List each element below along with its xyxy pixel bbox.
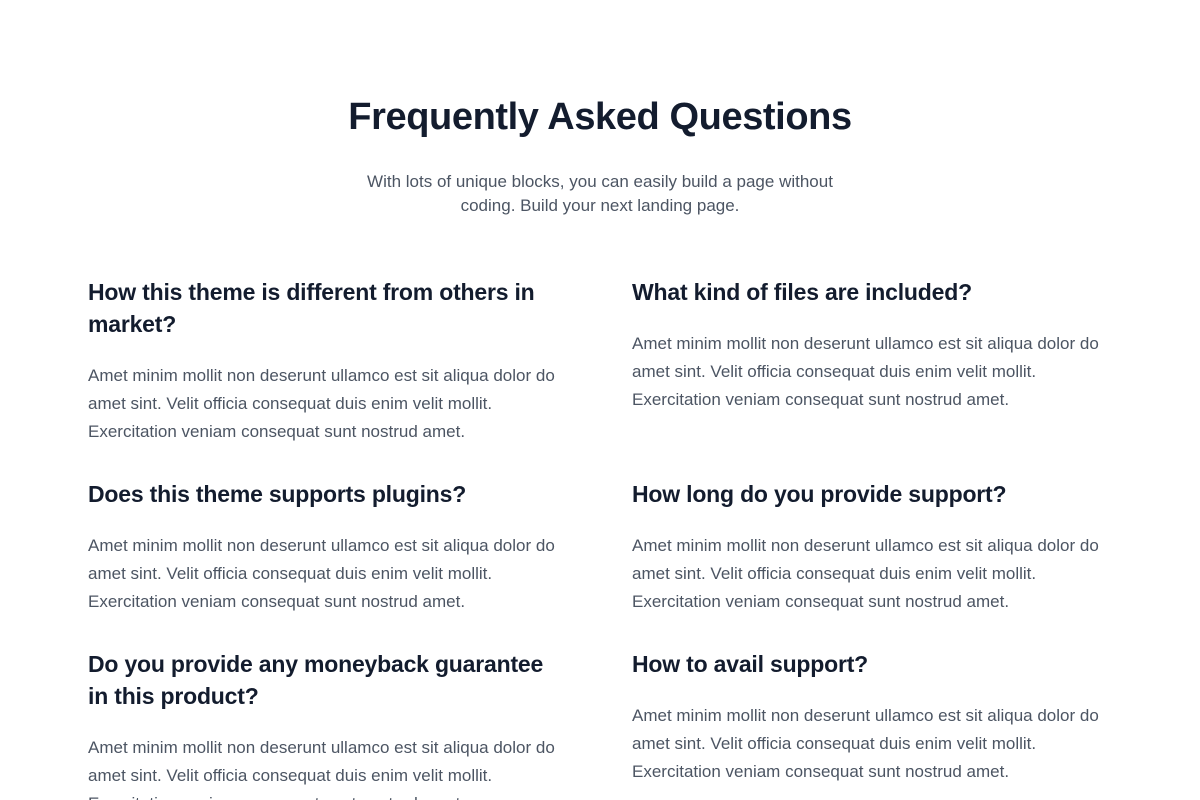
- faq-section: Frequently Asked Questions With lots of …: [0, 0, 1200, 800]
- faq-item: Does this theme supports plugins? Amet m…: [88, 478, 568, 648]
- faq-answer: Amet minim mollit non deserunt ullamco e…: [88, 510, 568, 616]
- faq-header: Frequently Asked Questions With lots of …: [0, 0, 1200, 218]
- page-subtitle: With lots of unique blocks, you can easi…: [340, 142, 860, 218]
- faq-answer: Amet minim mollit non deserunt ullamco e…: [88, 712, 568, 800]
- faq-question: How to avail support?: [632, 648, 1112, 680]
- faq-item: How long do you provide support? Amet mi…: [632, 478, 1112, 648]
- faq-answer: Amet minim mollit non deserunt ullamco e…: [632, 308, 1112, 414]
- faq-question: What kind of files are included?: [632, 276, 1112, 308]
- faq-grid: How this theme is different from others …: [0, 276, 1200, 800]
- faq-question: Do you provide any moneyback guarantee i…: [88, 648, 568, 712]
- faq-question: How long do you provide support?: [632, 478, 1112, 510]
- faq-question: Does this theme supports plugins?: [88, 478, 568, 510]
- faq-item: Do you provide any moneyback guarantee i…: [88, 648, 568, 800]
- faq-item: How this theme is different from others …: [88, 276, 568, 478]
- page-title: Frequently Asked Questions: [0, 92, 1200, 142]
- faq-item: What kind of files are included? Amet mi…: [632, 276, 1112, 478]
- faq-answer: Amet minim mollit non deserunt ullamco e…: [88, 340, 568, 446]
- faq-question: How this theme is different from others …: [88, 276, 568, 340]
- faq-answer: Amet minim mollit non deserunt ullamco e…: [632, 510, 1112, 616]
- faq-item: How to avail support? Amet minim mollit …: [632, 648, 1112, 800]
- faq-answer: Amet minim mollit non deserunt ullamco e…: [632, 680, 1112, 786]
